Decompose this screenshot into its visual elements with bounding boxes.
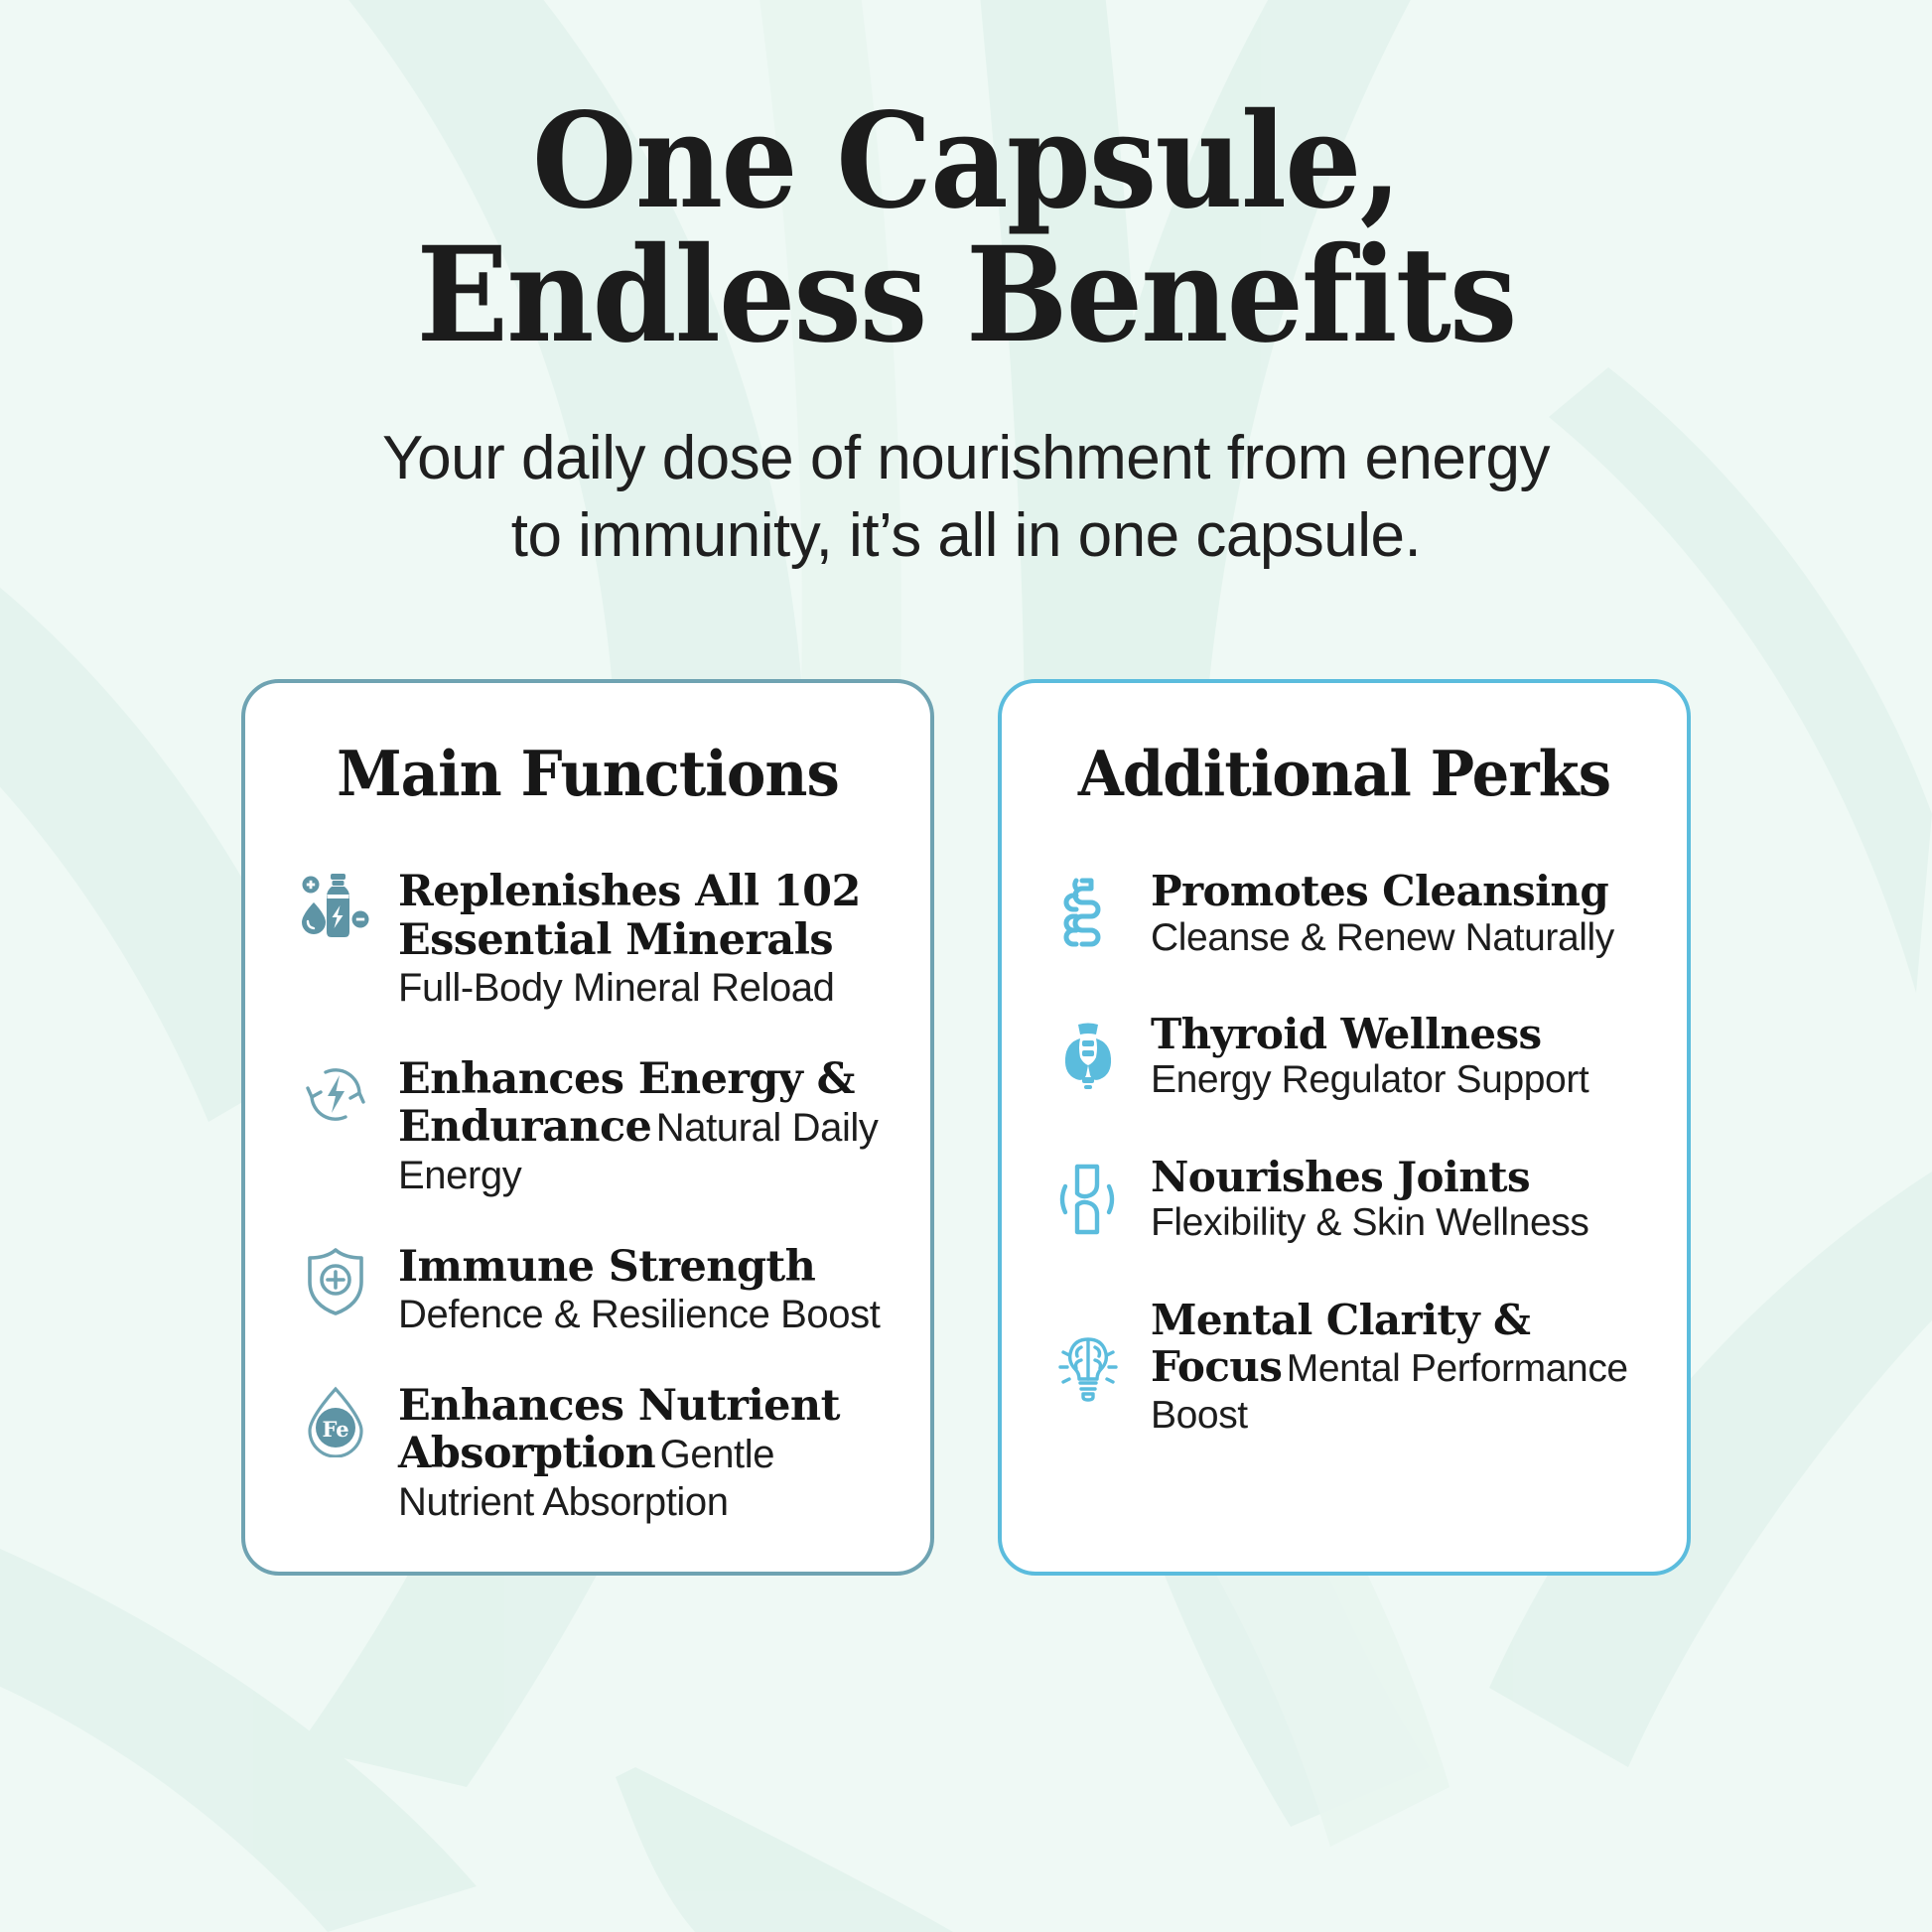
list-item-subtext: Energy Regulator Support xyxy=(1151,1058,1588,1101)
additional-perks-list: Promotes Cleansing Cleanse & Renew Natur… xyxy=(1041,866,1647,1439)
list-item-heading: Promotes Cleansing xyxy=(1151,867,1608,915)
list-item-text: Enhances Nutrient Absorption Gentle Nutr… xyxy=(398,1380,891,1526)
list-item: Thyroid Wellness Energy Regulator Suppor… xyxy=(1051,1009,1647,1104)
joint-bone-icon xyxy=(1051,1163,1125,1236)
list-item-subtext: Full-Body Mineral Reload xyxy=(398,966,834,1010)
thyroid-gland-icon xyxy=(1051,1020,1125,1093)
subtitle-line-2: to immunity, it’s all in one capsule. xyxy=(0,497,1932,575)
list-item: Replenishes All 102 Essential Minerals F… xyxy=(299,866,891,1011)
iron-symbol-label: Fe xyxy=(322,1417,348,1442)
list-item-subtext: Defence & Resilience Boost xyxy=(398,1293,880,1336)
card-main-functions: Main Functions xyxy=(241,679,934,1576)
header: One Capsule, Endless Benefits Your daily… xyxy=(0,0,1932,575)
list-item-subtext: Flexibility & Skin Wellness xyxy=(1151,1201,1588,1244)
electrolyte-bottle-icon xyxy=(299,870,372,943)
title-line-1: One Capsule, xyxy=(77,95,1855,229)
shield-plus-icon xyxy=(299,1245,372,1318)
subtitle-line-1: Your daily dose of nourishment from ener… xyxy=(0,420,1932,497)
list-item-text: Promotes Cleansing Cleanse & Renew Natur… xyxy=(1151,866,1647,961)
list-item-heading: Immune Strength xyxy=(398,1242,815,1292)
list-item-text: Mental Clarity & Focus Mental Performanc… xyxy=(1151,1295,1647,1440)
intestine-icon xyxy=(1051,877,1125,950)
energy-recycle-bolt-icon xyxy=(299,1057,372,1131)
list-item-subtext: Cleanse & Renew Naturally xyxy=(1151,916,1614,959)
card-title-additional-perks: Additional Perks xyxy=(1059,737,1628,810)
iron-droplet-icon: Fe xyxy=(299,1384,372,1457)
brain-bulb-icon xyxy=(1051,1330,1125,1404)
list-item: Nourishes Joints Flexibility & Skin Well… xyxy=(1051,1152,1647,1247)
list-item-text: Enhances Energy & Endurance Natural Dail… xyxy=(398,1053,891,1199)
card-additional-perks: Additional Perks xyxy=(998,679,1691,1576)
list-item-text: Immune Strength Defence & Resilience Boo… xyxy=(398,1241,891,1338)
list-item-heading: Thyroid Wellness xyxy=(1151,1010,1542,1058)
list-item: Fe Enhances Nutrient Absorption Gentle N… xyxy=(299,1380,891,1526)
page-subtitle: Your daily dose of nourishment from ener… xyxy=(0,420,1932,575)
list-item-heading: Nourishes Joints xyxy=(1151,1153,1530,1201)
list-item-heading: Replenishes All 102 Essential Minerals xyxy=(398,867,861,964)
infographic-canvas: One Capsule, Endless Benefits Your daily… xyxy=(0,0,1932,1932)
main-functions-list: Replenishes All 102 Essential Minerals F… xyxy=(285,866,891,1526)
list-item: Enhances Energy & Endurance Natural Dail… xyxy=(299,1053,891,1199)
benefit-cards-row: Main Functions xyxy=(0,679,1932,1576)
list-item: Promotes Cleansing Cleanse & Renew Natur… xyxy=(1051,866,1647,961)
list-item: Immune Strength Defence & Resilience Boo… xyxy=(299,1241,891,1338)
list-item: Mental Clarity & Focus Mental Performanc… xyxy=(1051,1295,1647,1440)
title-line-2: Endless Benefits xyxy=(77,229,1855,363)
list-item-text: Thyroid Wellness Energy Regulator Suppor… xyxy=(1151,1009,1647,1104)
list-item-text: Replenishes All 102 Essential Minerals F… xyxy=(398,866,891,1011)
list-item-text: Nourishes Joints Flexibility & Skin Well… xyxy=(1151,1152,1647,1247)
page-title: One Capsule, Endless Benefits xyxy=(77,95,1855,362)
card-title-main-functions: Main Functions xyxy=(303,737,872,810)
